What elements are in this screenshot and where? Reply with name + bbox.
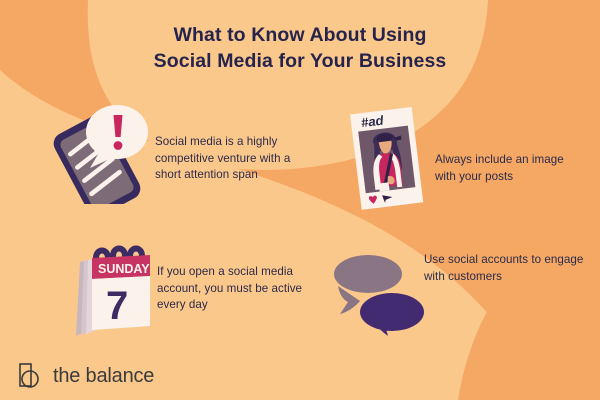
caption-attention-span: Social media is a highly competitive ven… — [155, 134, 305, 184]
balance-b-mark-icon — [18, 362, 44, 390]
caption-include-image: Always include an image with your posts — [435, 152, 585, 185]
infographic-canvas: What to Know About Using Social Media fo… — [0, 0, 600, 400]
speech-bubbles-icon — [330, 244, 430, 340]
title-line-1: What to Know About Using — [174, 24, 427, 46]
polaroid-photo-icon: #ad — [350, 106, 430, 216]
brand-logo[interactable]: the balance — [18, 361, 154, 391]
brand-logo-text: the balance — [53, 366, 154, 386]
desk-calendar-icon: SUNDAY 7 — [58, 240, 158, 340]
caption-engage-customers: Use social accounts to engage with custo… — [424, 252, 584, 285]
calendar-date: 7 — [106, 284, 128, 328]
polaroid-hashtag-label: #ad — [360, 112, 385, 130]
page-title: What to Know About Using Social Media fo… — [0, 22, 600, 74]
phone-with-alert-bubble-icon — [44, 96, 154, 204]
calendar-day-name: SUNDAY — [98, 262, 150, 276]
caption-post-daily: If you open a social media account, you … — [157, 264, 317, 314]
title-line-2: Social Media for Your Business — [0, 48, 600, 74]
